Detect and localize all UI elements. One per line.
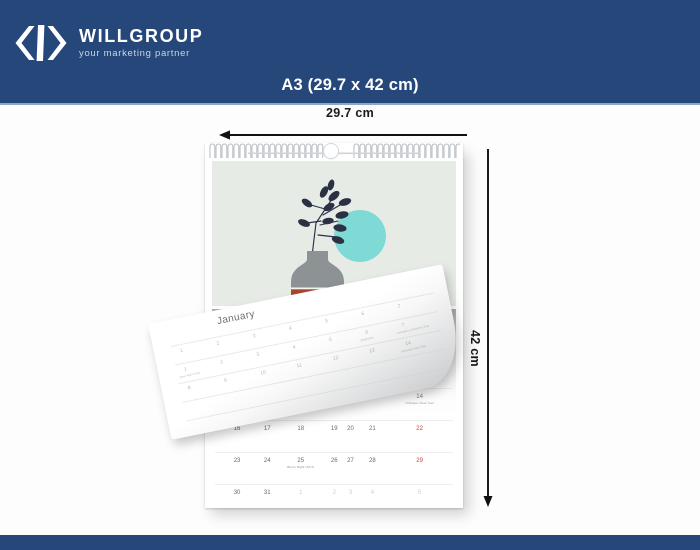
- flip-day-event: New Year's Day: [179, 370, 200, 379]
- calendar-day-cell[interactable]: 18: [275, 421, 326, 453]
- day-event-label: Orthodox New Year: [387, 402, 452, 406]
- calendar-body: January MOTUWETHFRSASU1New Year's Day234…: [205, 143, 463, 508]
- brand-tagline: your marketing partner: [79, 49, 203, 59]
- weekday-cell: TU: [259, 343, 275, 357]
- calendar-day-cell[interactable]: 14Orthodox New Year: [386, 389, 453, 421]
- hanging-hole: [324, 144, 338, 158]
- calendar-day-cell[interactable]: 12: [342, 389, 358, 421]
- calendar-day-cell[interactable]: 26: [326, 453, 342, 485]
- calendar-day-cell[interactable]: 4: [359, 485, 387, 509]
- brand-text: WILLGROUP your marketing partner: [79, 27, 203, 59]
- calendar-month-label: January: [225, 329, 267, 341]
- weekday-cell: SA: [359, 343, 387, 357]
- calendar-day-cell[interactable]: 7Orthodox Christmas Day: [386, 357, 453, 389]
- day-number: 3: [299, 362, 302, 368]
- calendar-week-row: 16171819202122: [215, 421, 453, 453]
- calendar-day-cell[interactable]: 8: [215, 389, 259, 421]
- calendar-day-cell[interactable]: 6Epiphany: [359, 357, 387, 389]
- calendar-grid-table: MOTUWETHFRSASU1New Year's Day23456Epipha…: [215, 343, 453, 508]
- brand-lockup: WILLGROUP your marketing partner: [14, 23, 203, 63]
- wall-calendar-product: January MOTUWETHFRSASU1New Year's Day234…: [205, 143, 467, 513]
- calendar-day-cell[interactable]: 19: [326, 421, 342, 453]
- weekday-cell: WE: [275, 343, 326, 357]
- day-number: 20: [347, 426, 354, 432]
- code-brackets-icon: [14, 23, 68, 63]
- calendar-day-cell[interactable]: 16: [215, 421, 259, 453]
- day-number: 11: [331, 394, 337, 400]
- day-event-label: Epiphany: [360, 370, 386, 374]
- weekday-cell: SU: [386, 343, 453, 357]
- day-number: 5: [349, 362, 352, 368]
- page-header: WILLGROUP your marketing partner A3 (29.…: [0, 0, 700, 105]
- calendar-day-cell[interactable]: 30: [215, 485, 259, 509]
- calendar-day-cell[interactable]: 3: [342, 485, 358, 509]
- width-dimension-label: 29.7 cm: [0, 106, 700, 120]
- vase-base-shape: [291, 289, 344, 303]
- calendar-day-cell[interactable]: 22: [386, 421, 453, 453]
- calendar-day-cell[interactable]: 5: [386, 485, 453, 509]
- calendar-day-cell[interactable]: 17: [259, 421, 275, 453]
- day-number: 6: [371, 362, 374, 368]
- day-number: 30: [234, 490, 241, 496]
- arrow-left-icon: [219, 130, 467, 139]
- flip-day-number: 8: [187, 385, 191, 391]
- page-title: A3 (29.7 x 42 cm): [0, 76, 700, 95]
- day-number: 2: [333, 490, 336, 496]
- day-number: 17: [264, 426, 271, 432]
- calendar-week-row: 232425Burns Night (SCT)26272829: [215, 453, 453, 485]
- day-number: 23: [234, 458, 241, 464]
- calendar-day-cell[interactable]: 25Burns Night (SCT): [275, 453, 326, 485]
- calendar-day-cell[interactable]: 28: [359, 453, 387, 485]
- calendar-day-cell[interactable]: 1: [275, 485, 326, 509]
- day-number: 29: [416, 458, 423, 464]
- calendar-day-cell[interactable]: 29: [386, 453, 453, 485]
- day-number: 4: [371, 490, 374, 496]
- weekday-cell: TH: [326, 343, 342, 357]
- day-number: 10: [297, 394, 304, 400]
- calendar-day-cell[interactable]: 3: [275, 357, 326, 389]
- day-number: 16: [234, 426, 241, 432]
- day-event-label: New Year's Day: [216, 370, 258, 374]
- calendar-day-cell[interactable]: 10: [275, 389, 326, 421]
- height-dimension-label: 42 cm: [468, 330, 482, 367]
- page-footer: [0, 535, 700, 550]
- calendar-day-cell[interactable]: 21: [359, 421, 387, 453]
- calendar-day-cell[interactable]: 5: [342, 357, 358, 389]
- arrow-down-icon: [484, 149, 493, 507]
- day-number: 2: [266, 362, 269, 368]
- day-number: 28: [369, 458, 376, 464]
- screenshot-stage: WILLGROUP your marketing partner A3 (29.…: [0, 0, 700, 550]
- day-number: 22: [416, 426, 423, 432]
- day-number: 26: [331, 458, 338, 464]
- header-divider: [0, 103, 700, 105]
- calendar-weekday-header: MOTUWETHFRSASU: [215, 343, 453, 357]
- calendar-day-cell[interactable]: 1New Year's Day: [215, 357, 259, 389]
- day-number: 9: [266, 394, 269, 400]
- day-number: 1: [235, 362, 238, 368]
- calendar-week-row: 891011121314Orthodox New Year: [215, 389, 453, 421]
- day-number: 18: [297, 426, 304, 432]
- day-number: 3: [349, 490, 352, 496]
- day-number: 27: [347, 458, 354, 464]
- day-number: 31: [264, 490, 271, 496]
- day-number: 8: [235, 394, 238, 400]
- day-event-label: Orthodox Christmas Day: [387, 370, 452, 374]
- day-event-label: Burns Night (SCT): [276, 466, 325, 470]
- calendar-day-cell[interactable]: 20: [342, 421, 358, 453]
- day-number: 4: [333, 362, 336, 368]
- day-number: 12: [347, 394, 354, 400]
- calendar-day-cell[interactable]: 24: [259, 453, 275, 485]
- day-number: 14: [416, 394, 423, 400]
- height-dimension-arrow: [483, 149, 493, 507]
- flip-day-number: 1: [183, 366, 187, 372]
- day-number: 24: [264, 458, 271, 464]
- calendar-day-cell[interactable]: 11: [326, 389, 342, 421]
- calendar-day-cell[interactable]: 27: [342, 453, 358, 485]
- brand-name: WILLGROUP: [79, 27, 203, 45]
- calendar-week-row: 1New Year's Day23456Epiphany7Orthodox Ch…: [215, 357, 453, 389]
- weekday-cell: FR: [342, 343, 358, 357]
- day-number: 5: [418, 490, 421, 496]
- calendar-day-cell[interactable]: 2: [259, 357, 275, 389]
- day-number: 13: [369, 394, 376, 400]
- calendar-day-cell[interactable]: 9: [259, 389, 275, 421]
- day-number: 25: [297, 458, 304, 464]
- day-number: 19: [331, 426, 338, 432]
- day-number: 7: [418, 362, 421, 368]
- width-dimension-arrow: [219, 127, 467, 137]
- calendar-day-cell[interactable]: 23: [215, 453, 259, 485]
- calendar-day-cell[interactable]: 13: [359, 389, 387, 421]
- calendar-day-cell[interactable]: 31: [259, 485, 275, 509]
- day-number: 21: [369, 426, 376, 432]
- calendar-week-row: 303112345: [215, 485, 453, 509]
- flip-day-number: 1: [180, 348, 184, 354]
- day-number: 1: [299, 490, 302, 496]
- weekday-cell: MO: [215, 343, 259, 357]
- calendar-photo-panel: [212, 161, 456, 306]
- calendar-day-cell[interactable]: 2: [326, 485, 342, 509]
- calendar-day-cell[interactable]: 4: [326, 357, 342, 389]
